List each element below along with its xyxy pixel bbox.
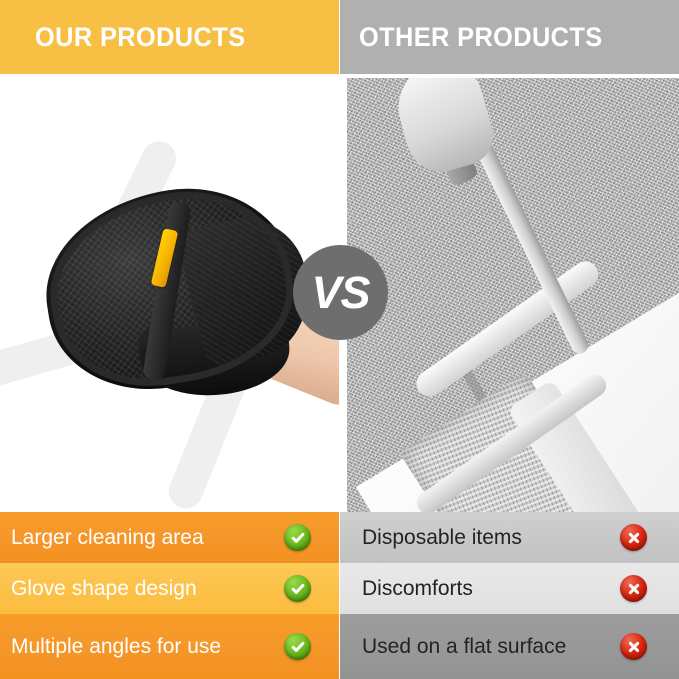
green-check-icon	[284, 575, 311, 602]
green-check-icon	[284, 633, 311, 660]
other-products-title: OTHER PRODUCTS	[359, 22, 603, 53]
mop-photo	[347, 78, 679, 512]
other-feature-cell: Used on a flat surface	[340, 614, 679, 679]
other-feature-label: Discomforts	[362, 577, 473, 601]
comparison-table: Larger cleaning area Disposable items	[0, 512, 679, 679]
other-feature-cell: Discomforts	[340, 563, 679, 614]
our-feature-label: Glove shape design	[11, 577, 197, 601]
other-feature-label: Used on a flat surface	[362, 635, 566, 659]
comparison-infographic: OUR PRODUCTS OTHER PRODUCTS	[0, 0, 679, 679]
vs-label: VS	[311, 267, 369, 319]
our-feature-label: Multiple angles for use	[11, 635, 221, 659]
cleaning-glove-illustration	[40, 149, 320, 449]
vs-badge: VS	[293, 245, 388, 340]
our-feature-label: Larger cleaning area	[11, 526, 204, 550]
header-other-products: OTHER PRODUCTS	[340, 0, 679, 74]
table-row: Larger cleaning area Disposable items	[0, 512, 679, 563]
red-cross-icon	[620, 575, 647, 602]
header-our-products: OUR PRODUCTS	[0, 0, 339, 74]
green-check-icon	[284, 524, 311, 551]
our-feature-cell: Glove shape design	[0, 563, 339, 614]
our-feature-cell: Larger cleaning area	[0, 512, 339, 563]
our-product-image-panel	[0, 74, 339, 512]
other-feature-cell: Disposable items	[340, 512, 679, 563]
red-cross-icon	[620, 524, 647, 551]
red-cross-icon	[620, 633, 647, 660]
table-row: Multiple angles for use Used on a flat s…	[0, 614, 679, 679]
our-products-title: OUR PRODUCTS	[35, 22, 245, 53]
our-feature-cell: Multiple angles for use	[0, 614, 339, 679]
other-product-image-panel	[340, 74, 679, 512]
table-row: Glove shape design Discomforts	[0, 563, 679, 614]
other-feature-label: Disposable items	[362, 526, 522, 550]
